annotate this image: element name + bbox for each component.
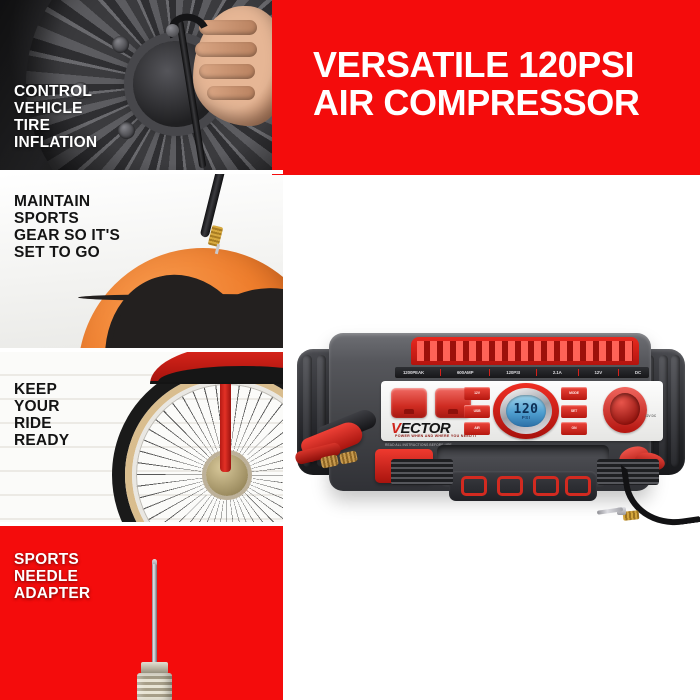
infographic-root: CONTROL VEHICLE TIRE INFLATION MAINTAIN …	[0, 0, 700, 700]
clamp-copper-teeth	[339, 450, 358, 464]
red-edge-strip	[272, 524, 283, 700]
spec-separator	[440, 369, 441, 376]
finger	[207, 86, 255, 100]
button-mode[interactable]: MODE	[561, 387, 587, 400]
spec-label: DC	[635, 370, 641, 375]
panel-divider	[0, 170, 283, 174]
needle-threaded-base	[137, 673, 172, 700]
spec-label: 12V	[595, 370, 603, 375]
lcd-pressure-unit: PSI	[506, 415, 546, 420]
spec-separator	[618, 369, 619, 376]
spec-strip: 1200PEAK 600AMP 120PSI 2.1A 12V DC	[395, 367, 649, 378]
jumper-clamps	[295, 411, 381, 491]
spec-separator	[578, 369, 579, 376]
header-banner: VERSATILE 120PSI AIR COMPRESSOR	[283, 0, 700, 175]
clamp-copper-teeth	[320, 454, 339, 468]
feature-caption-needle: SPORTS NEEDLE ADAPTER	[14, 552, 90, 603]
feature-panel-needle: SPORTS NEEDLE ADAPTER	[0, 526, 283, 700]
handle-grip	[461, 476, 487, 496]
handle-grip	[565, 476, 591, 496]
button-air[interactable]: AIR	[464, 422, 490, 435]
spec-separator	[489, 369, 490, 376]
air-hose-assembly	[595, 465, 691, 521]
bottom-vent-left	[391, 459, 453, 485]
finger	[199, 64, 255, 79]
basketball-graphic	[78, 248, 283, 348]
button-column-left: 12V USB AIR	[464, 387, 490, 435]
air-hose-tube	[621, 454, 700, 532]
spec-label: 600AMP	[457, 370, 473, 375]
top-vent	[411, 337, 639, 365]
button-set[interactable]: SET	[561, 405, 587, 418]
air-compressor-product: 1200PEAK 600AMP 120PSI 2.1A 12V DC VECTO…	[295, 315, 687, 540]
button-on[interactable]: ON	[561, 422, 587, 435]
page-title: VERSATILE 120PSI AIR COMPRESSOR	[313, 46, 693, 122]
lcd-display: 120 PSI	[506, 395, 546, 427]
product-hero-area: 1200PEAK 600AMP 120PSI 2.1A 12V DC VECTO…	[283, 175, 700, 700]
button-usb[interactable]: USB	[464, 405, 490, 418]
spec-label: 120PSI	[506, 370, 520, 375]
red-edge-strip	[272, 0, 283, 175]
valve-stem-icon	[166, 24, 179, 37]
button-column-right: MODE SET ON	[561, 387, 587, 435]
pod-rib	[671, 355, 680, 467]
panel-divider	[0, 348, 283, 352]
panel-divider	[0, 522, 283, 526]
feature-caption-tire: CONTROL VEHICLE TIRE INFLATION	[14, 84, 97, 152]
feature-panel-tire: CONTROL VEHICLE TIRE INFLATION	[0, 0, 283, 170]
feature-caption-bike: KEEP YOUR RIDE READY	[14, 382, 69, 450]
spec-separator	[536, 369, 537, 376]
vent-slots	[417, 341, 633, 361]
feature-panel-bike: KEEP YOUR RIDE READY	[0, 352, 283, 522]
feature-caption-sports: MAINTAIN SPORTS GEAR SO IT'S SET TO GO	[14, 194, 120, 262]
spec-label: 1200PEAK	[403, 370, 424, 375]
carry-handle[interactable]	[449, 471, 597, 501]
ac-outlet-1[interactable]	[391, 388, 427, 418]
feature-panel-column: CONTROL VEHICLE TIRE INFLATION MAINTAIN …	[0, 0, 283, 700]
spec-label: 2.1A	[553, 370, 562, 375]
feature-panel-sports: MAINTAIN SPORTS GEAR SO IT'S SET TO GO	[0, 174, 283, 348]
handle-grip	[533, 476, 559, 496]
handle-grip	[497, 476, 523, 496]
control-panel: VECTOR POWER WHEN AND WHERE YOU NEED IT …	[381, 381, 663, 441]
dc-socket-label: 12V DC	[645, 415, 661, 419]
dc-socket[interactable]	[610, 393, 640, 425]
button-12v[interactable]: 12V	[464, 387, 490, 400]
needle-shaft	[152, 564, 157, 668]
